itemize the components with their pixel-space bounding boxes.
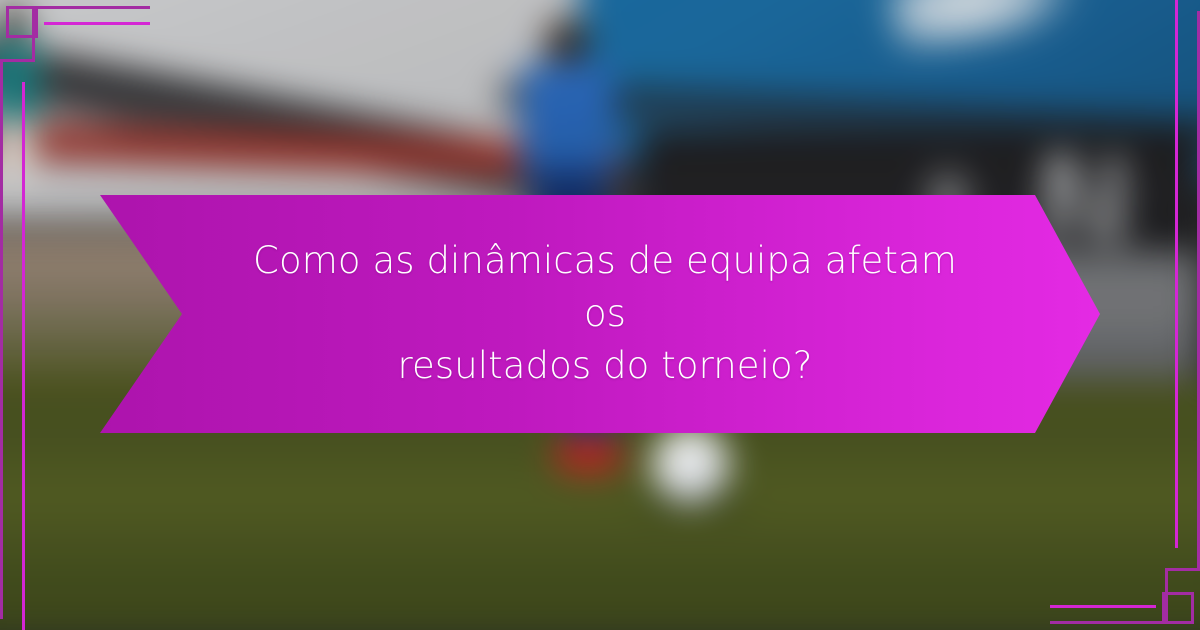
corner-inner-vertical-line bbox=[1175, 0, 1178, 548]
corner-outer-horizontal-line bbox=[32, 6, 150, 9]
corner-outer-vertical-line bbox=[32, 6, 35, 62]
corner-inner-vertical-line bbox=[22, 82, 25, 630]
corner-outer-vertical-line bbox=[1165, 568, 1168, 624]
bottom-right-corner-frame bbox=[1050, 552, 1200, 630]
corner-outer-horizontal-line-2 bbox=[0, 59, 35, 62]
headline-text: Como as dinâmicas de equipa afetam os re… bbox=[230, 235, 980, 393]
top-left-corner-frame bbox=[0, 0, 150, 78]
headline-banner: Como as dinâmicas de equipa afetam os re… bbox=[100, 195, 1100, 433]
headline-line-2: resultados do torneio? bbox=[230, 340, 980, 393]
headline-line-1: Como as dinâmicas de equipa afetam os bbox=[230, 235, 980, 340]
corner-inner-horizontal-line bbox=[1050, 605, 1156, 608]
corner-inner-horizontal-line bbox=[44, 22, 150, 25]
share-card: Como as dinâmicas de equipa afetam os re… bbox=[0, 0, 1200, 630]
corner-edge-vertical-line bbox=[0, 59, 3, 619]
corner-outer-horizontal-line bbox=[1050, 621, 1168, 624]
corner-outer-horizontal-line-2 bbox=[1165, 568, 1200, 571]
